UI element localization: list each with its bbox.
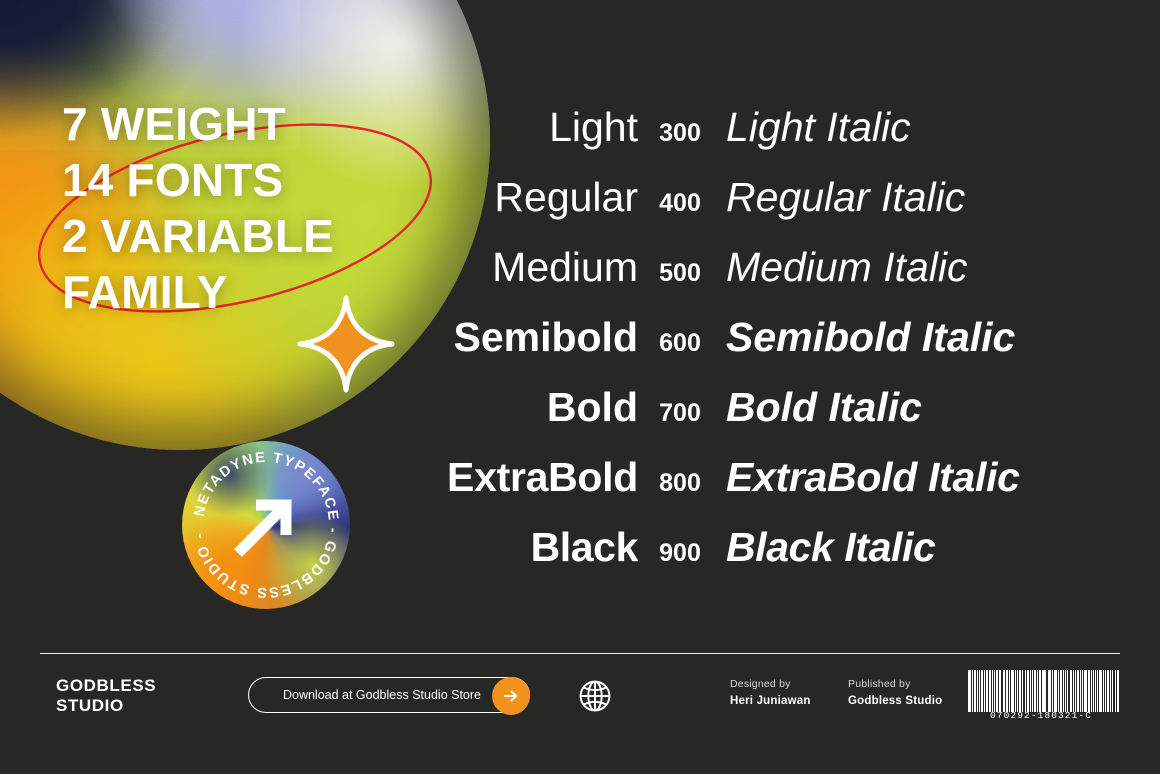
weight-value: 600 [638,308,722,378]
weight-name: Semibold [400,302,638,372]
weight-italic-name: Black Italic [722,512,1102,582]
weight-row: Bold 700 Bold Italic [400,372,1102,442]
weight-italic-name: Regular Italic [722,162,1102,232]
page-title: 7 WEIGHT 14 FONTS 2 VARIABLE FAMILY [62,96,334,320]
weight-value: 900 [638,518,722,588]
published-by-label: Published by [848,678,942,690]
designed-by-name: Heri Juniawan [730,695,811,707]
barcode-number: 070292-180321-C [968,710,1114,721]
weight-value: 400 [638,168,722,238]
headline-line-1: 7 WEIGHT [62,96,334,152]
weight-row: Black 900 Black Italic [400,512,1102,582]
headline-line-3: 2 VARIABLE [62,208,334,264]
weight-italic-name: Bold Italic [722,372,1102,442]
weight-italic-name: ExtraBold Italic [722,442,1102,512]
weight-italic-name: Semibold Italic [722,302,1102,372]
weight-row: ExtraBold 800 ExtraBold Italic [400,442,1102,512]
weight-value: 800 [638,448,722,518]
designed-by-label: Designed by [730,678,811,690]
download-button[interactable]: Download at Godbless Studio Store [248,677,530,713]
font-specimen-poster: 7 WEIGHT 14 FONTS 2 VARIABLE FAMILY NETA… [0,0,1160,774]
weight-italic-name: Light Italic [722,92,1102,162]
weight-value: 700 [638,378,722,448]
logo-line-1: GODBLESS [56,676,156,696]
barcode-gap [1119,670,1120,712]
godbless-studio-logo: GODBLESS STUDIO [56,676,156,716]
weight-name: Light [400,92,638,162]
logo-line-2: STUDIO [56,696,156,716]
designed-by-credit: Designed by Heri Juniawan [730,678,811,707]
headline-line-2: 14 FONTS [62,152,334,208]
barcode: 070292-180321-C [968,670,1114,726]
download-button-label: Download at Godbless Studio Store [249,688,529,702]
footer-divider [40,653,1120,654]
arrow-right-icon[interactable] [492,677,530,715]
globe-icon[interactable] [577,678,613,714]
weights-list: Light 300 Light Italic Regular 400 Regul… [400,92,1102,582]
weight-row: Semibold 600 Semibold Italic [400,302,1102,372]
arrow-up-right-icon [226,485,306,565]
weight-row: Light 300 Light Italic [400,92,1102,162]
weight-name: Black [400,512,638,582]
weight-row: Regular 400 Regular Italic [400,162,1102,232]
weight-name: Regular [400,162,638,232]
weight-name: ExtraBold [400,442,638,512]
four-point-star-icon [296,294,396,394]
footer: GODBLESS STUDIO Download at Godbless Stu… [40,668,1120,738]
weight-value: 500 [638,238,722,308]
weight-row: Medium 500 Medium Italic [400,232,1102,302]
barcode-bars [968,670,1114,712]
weight-value: 300 [638,98,722,168]
weight-name: Medium [400,232,638,302]
headline-line-4: FAMILY [62,264,334,320]
weight-italic-name: Medium Italic [722,232,1102,302]
studio-badge[interactable]: NETADYNE TYPEFACE - GODBLESS STUDIO - [182,441,350,609]
published-by-credit: Published by Godbless Studio [848,678,942,707]
weight-name: Bold [400,372,638,442]
published-by-name: Godbless Studio [848,695,942,707]
